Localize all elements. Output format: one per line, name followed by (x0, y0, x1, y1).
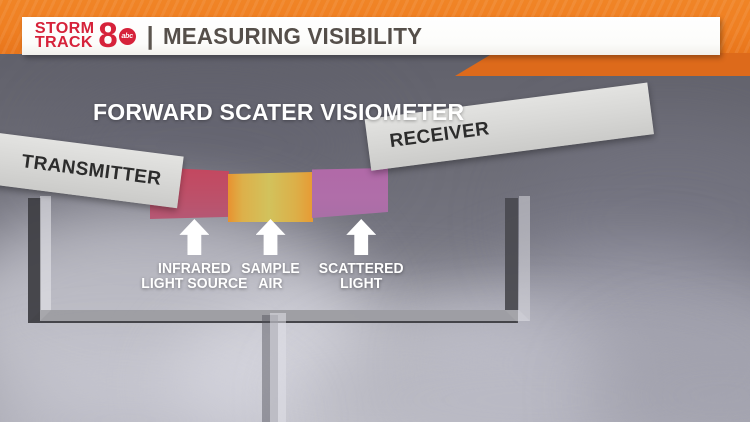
callout-infrared-light-source: INFRARED LIGHT SOURCE (139, 219, 250, 292)
callout-line-1: SAMPLE (241, 262, 300, 277)
channel-number: 8 (98, 18, 116, 53)
callout-sample-air: SAMPLE AIR (240, 219, 301, 292)
graphic-heading: FORWARD SCATER VISIOMETER (93, 99, 464, 126)
callout-label: SCATTERED LIGHT (319, 262, 404, 292)
header-title: MEASURING VISIBILITY (163, 23, 422, 50)
scattered-light-band (312, 168, 388, 218)
callout-line-2: LIGHT (319, 277, 404, 292)
callout-scattered-light: SCATTERED LIGHT (317, 219, 405, 292)
station-logo: STORM TRACK 8 abc (36, 19, 136, 53)
arrow-up-icon (179, 219, 209, 255)
arrow-up-icon (256, 219, 286, 255)
header-accent-tail (455, 53, 750, 76)
transmitter-label: TRANSMITTER (20, 151, 162, 191)
logo-wordmark: STORM TRACK (35, 22, 94, 51)
callout-line-2: AIR (241, 277, 300, 292)
support-post (270, 313, 286, 422)
callout-line-1: SCATTERED (319, 262, 404, 277)
abc-network-icon: abc (119, 28, 136, 45)
sample-air-band (228, 172, 313, 222)
callout-line-2: LIGHT SOURCE (141, 277, 247, 292)
callout-line-1: INFRARED (141, 262, 247, 277)
graphic-stage: TRANSMITTER RECEIVER INFRARED LIGHT SOUR… (0, 0, 750, 422)
header-bar: STORM TRACK 8 abc | MEASURING VISIBILITY (22, 17, 720, 55)
logo-line-track: TRACK (35, 36, 94, 50)
callout-label: SAMPLE AIR (241, 262, 300, 292)
header-divider: | (147, 24, 154, 49)
arrow-up-icon (346, 219, 376, 255)
callout-label: INFRARED LIGHT SOURCE (141, 262, 247, 292)
